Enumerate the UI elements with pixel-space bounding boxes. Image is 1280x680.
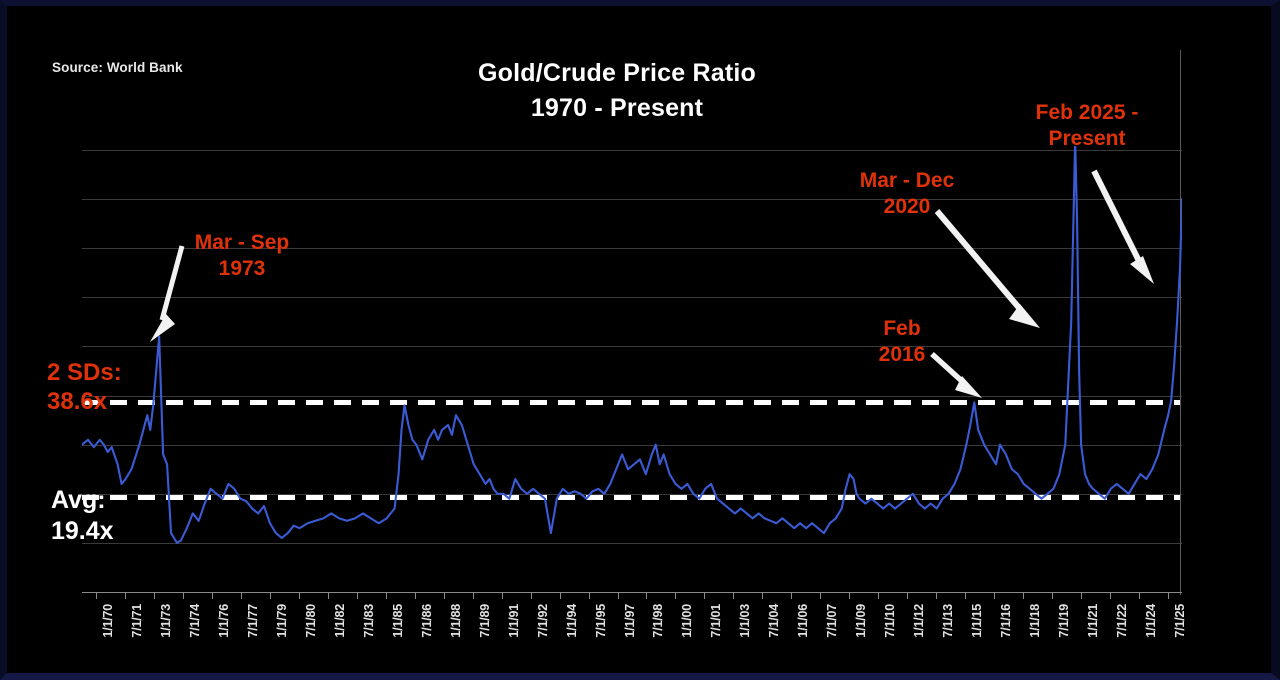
x-axis-tick: [125, 592, 126, 599]
x-axis-tick-label: 7/1/01: [709, 604, 723, 638]
x-axis-tick: [646, 592, 647, 599]
x-axis-tick: [183, 592, 184, 599]
annotation-2016: Feb 2016: [852, 316, 952, 369]
x-axis-tick-label: 1/1/24: [1144, 604, 1158, 638]
x-axis-tick-label: 7/1/10: [883, 604, 897, 638]
x-axis-tick: [907, 592, 908, 599]
chart-frame: Source: World Bank Gold/Crude Price Rati…: [0, 0, 1280, 680]
x-axis-tick-label: 7/1/19: [1057, 604, 1071, 638]
x-axis-tick: [936, 592, 937, 599]
x-axis-tick: [531, 592, 532, 599]
chart-title: Gold/Crude Price Ratio 1970 - Present: [427, 56, 807, 125]
x-axis-tick-label: 7/1/25: [1173, 604, 1187, 638]
x-axis-tick: [791, 592, 792, 599]
x-axis-tick: [1081, 592, 1082, 599]
gridline: [82, 346, 1182, 347]
chart-canvas: Source: World Bank Gold/Crude Price Rati…: [7, 6, 1271, 673]
x-axis-tick-label: 1/1/76: [217, 604, 231, 638]
gridline: [82, 199, 1182, 200]
gridline: [82, 297, 1182, 298]
avg-reference-callout: Avg: 19.4x: [51, 485, 114, 546]
x-axis-tick: [299, 592, 300, 599]
x-axis-tick-label: 1/1/79: [275, 604, 289, 638]
x-axis-tick: [560, 592, 561, 599]
x-axis-tick: [415, 592, 416, 599]
x-axis-tick-label: 1/1/85: [391, 604, 405, 638]
x-axis-tick-label: 1/1/94: [565, 604, 579, 638]
plot-right-border: [1180, 50, 1181, 595]
x-axis-tick: [849, 592, 850, 599]
sd-reference-callout: 2 SDs: 38.6x: [47, 358, 122, 417]
x-axis-tick: [1139, 592, 1140, 599]
x-axis-tick-label: 7/1/92: [536, 604, 550, 638]
x-axis-tick: [618, 592, 619, 599]
x-axis-tick: [502, 592, 503, 599]
x-axis-tick-label: 1/1/82: [333, 604, 347, 638]
annotation-1973: Mar - Sep 1973: [167, 230, 317, 283]
x-axis-tick-label: 1/1/97: [623, 604, 637, 638]
x-axis-tick-label: 1/1/12: [912, 604, 926, 638]
chart-title-line2: 1970 - Present: [427, 91, 807, 126]
x-axis-tick: [878, 592, 879, 599]
annotation-2025: Feb 2025 - Present: [1002, 100, 1172, 153]
x-axis-tick: [733, 592, 734, 599]
chart-title-line1: Gold/Crude Price Ratio: [478, 59, 756, 87]
x-axis-tick: [762, 592, 763, 599]
x-axis-tick-label: 1/1/91: [507, 604, 521, 638]
source-label: Source: World Bank: [52, 60, 183, 75]
x-axis-tick-label: 7/1/22: [1115, 604, 1129, 638]
x-axis-tick: [589, 592, 590, 599]
x-axis-tick: [1023, 592, 1024, 599]
x-axis-tick-label: 7/1/13: [941, 604, 955, 638]
annotation-2020: Mar - Dec 2020: [837, 168, 977, 221]
x-axis-tick: [357, 592, 358, 599]
x-axis-tick-label: 1/1/88: [449, 604, 463, 638]
x-axis-tick-label: 1/1/03: [738, 604, 752, 638]
x-axis-tick-label: 7/1/07: [825, 604, 839, 638]
reference-line-average: [82, 495, 1180, 500]
x-axis-tick: [212, 592, 213, 599]
x-axis-tick-label: 1/1/21: [1086, 604, 1100, 638]
x-axis-tick: [444, 592, 445, 599]
reference-line-2-sds: [82, 400, 1180, 405]
x-axis-tick: [1110, 592, 1111, 599]
gridline: [82, 543, 1182, 544]
x-axis-tick-label: 7/1/04: [767, 604, 781, 638]
x-axis-tick: [994, 592, 995, 599]
x-axis-tick-label: 7/1/77: [246, 604, 260, 638]
x-axis-tick-label: 1/1/18: [1028, 604, 1042, 638]
x-axis-tick-label: 7/1/74: [188, 604, 202, 638]
x-axis-tick: [473, 592, 474, 599]
x-axis-tick-label: 7/1/16: [999, 604, 1013, 638]
x-axis-tick: [965, 592, 966, 599]
x-axis-tick-label: 1/1/73: [159, 604, 173, 638]
gridline: [82, 445, 1182, 446]
x-axis-tick: [820, 592, 821, 599]
x-axis-tick-label: 1/1/06: [796, 604, 810, 638]
x-axis-tick-label: 7/1/98: [651, 604, 665, 638]
x-axis-tick-label: 1/1/70: [101, 604, 115, 638]
x-axis-tick-label: 7/1/80: [304, 604, 318, 638]
x-axis-tick-label: 1/1/15: [970, 604, 984, 638]
gridline: [82, 396, 1182, 397]
x-axis-tick: [328, 592, 329, 599]
x-axis-tick: [704, 592, 705, 599]
plot-area: 0305060708090: [82, 146, 1182, 596]
x-axis-tick-label: 7/1/89: [478, 604, 492, 638]
x-axis-tick: [154, 592, 155, 599]
x-axis-tick-label: 7/1/71: [130, 604, 144, 638]
x-axis-tick-label: 1/1/09: [854, 604, 868, 638]
x-axis-tick: [241, 592, 242, 599]
x-axis-tick-label: 7/1/86: [420, 604, 434, 638]
x-axis-tick-label: 7/1/83: [362, 604, 376, 638]
x-axis-tick: [1168, 592, 1169, 599]
x-axis-tick: [96, 592, 97, 599]
x-axis-tick-label: 1/1/00: [680, 604, 694, 638]
x-axis-ticks: 1/1/707/1/711/1/737/1/741/1/767/1/771/1/…: [82, 592, 1182, 680]
x-axis-tick: [270, 592, 271, 599]
x-axis-tick: [386, 592, 387, 599]
x-axis-tick: [675, 592, 676, 599]
x-axis-tick: [1052, 592, 1053, 599]
x-axis-tick-label: 7/1/95: [594, 604, 608, 638]
